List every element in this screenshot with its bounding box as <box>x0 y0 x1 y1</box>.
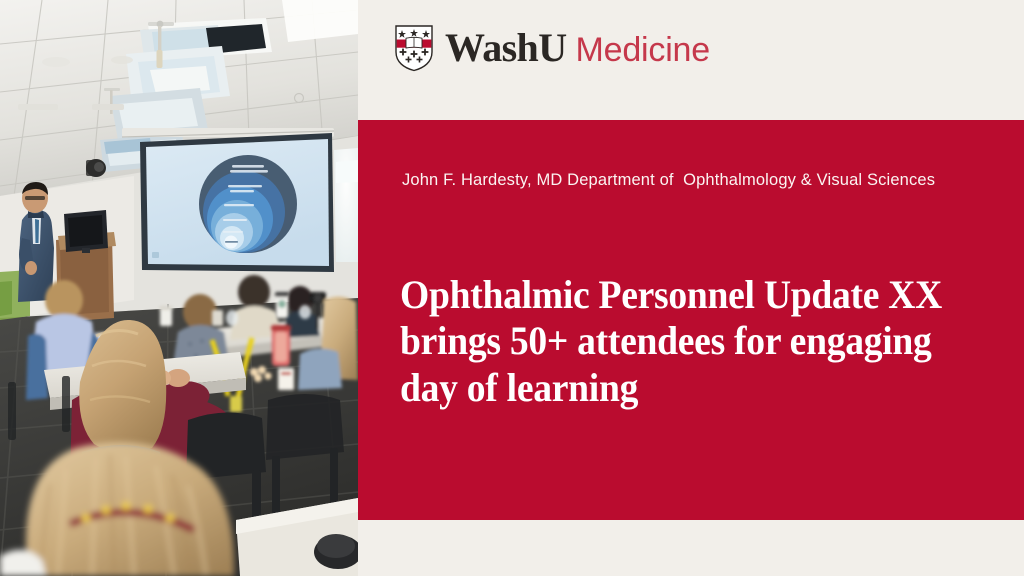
logo-medicine-text: Medicine <box>576 33 710 67</box>
presenter-hand <box>25 261 37 275</box>
photo-illustration <box>0 0 358 576</box>
content-column: WashU Medicine John F. Hardesty, MD Depa… <box>358 0 1024 576</box>
logo-wordmark: WashU Medicine <box>445 28 710 68</box>
classroom-photo <box>0 0 358 576</box>
logo-washu-text: WashU <box>445 28 567 68</box>
slide-root: WashU Medicine John F. Hardesty, MD Depa… <box>0 0 1024 576</box>
nested-circles-diagram <box>199 155 297 253</box>
wall-camera <box>86 159 106 177</box>
projection-screen <box>140 133 334 272</box>
page-title: Ophthalmic Personnel Update XX brings 50… <box>400 272 945 411</box>
department-eyebrow: John F. Hardesty, MD Department of Ophth… <box>402 170 1002 191</box>
crimson-title-panel: John F. Hardesty, MD Department of Ophth… <box>358 120 1024 520</box>
washu-medicine-logo[interactable]: WashU Medicine <box>394 24 710 72</box>
washu-shield-icon <box>394 24 434 72</box>
